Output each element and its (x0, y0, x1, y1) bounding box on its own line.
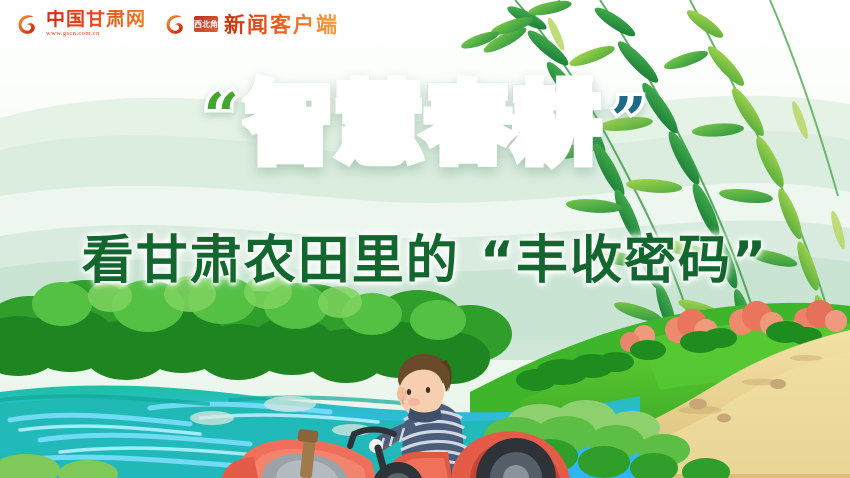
logo-gscn-name: 中国甘肃网 (46, 10, 146, 29)
swirl-icon (14, 11, 40, 37)
logo-news-app-name: 新闻客户端 (224, 9, 339, 39)
header-logos: 中国甘肃网 www.gscn.com.cn 西北角 新闻客户端 (0, 0, 850, 48)
poster-banner: 中国甘肃网 www.gscn.com.cn 西北角 新闻客户端 “ 智慧春耕 ”… (0, 0, 850, 478)
logo-seal-xibeijiao: 西北角 (194, 16, 218, 32)
logo-gscn[interactable]: 中国甘肃网 www.gscn.com.cn (14, 10, 146, 38)
logo-gscn-url: www.gscn.com.cn (46, 31, 146, 38)
logo-news-app[interactable]: 西北角 新闻客户端 (162, 9, 339, 39)
swirl-icon (162, 11, 188, 37)
farmer-tractor-illustration (0, 0, 850, 478)
